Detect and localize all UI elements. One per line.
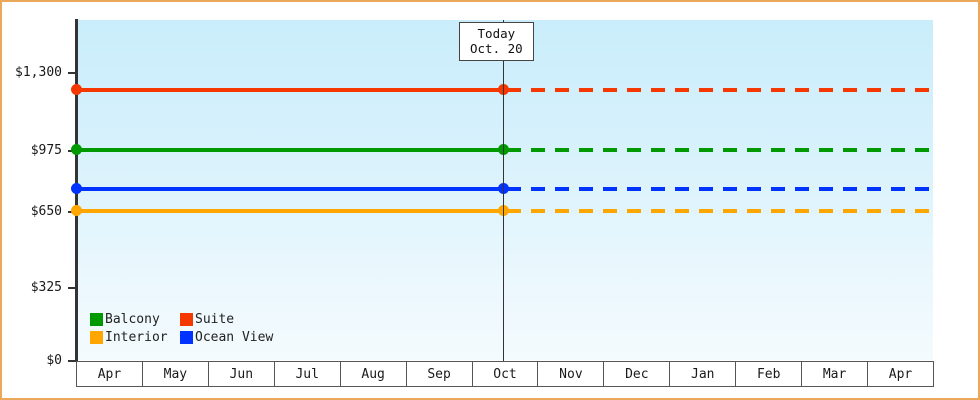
series-line-balcony-forecast [507,148,933,152]
x-axis-cell-may[interactable]: May [142,362,208,387]
y-axis-label-650: $650 [31,204,62,219]
legend-label-ocean-view: Ocean View [195,330,273,345]
x-axis-row: Apr May Jun Jul Aug Sep Oct Nov Dec Jan … [77,362,934,387]
x-axis-cell-jun[interactable]: Jun [208,362,274,387]
y-axis-label-0: $0 [46,353,62,368]
series-line-suite-actual [78,88,504,92]
today-callout-line2: Oct. 20 [470,41,523,56]
legend-swatch-ocean-view [180,331,193,344]
series-line-interior-actual [78,209,504,213]
series-line-suite-forecast [507,88,933,92]
legend-item-suite[interactable]: Suite [180,312,273,327]
x-axis-month-table: Apr May Jun Jul Aug Sep Oct Nov Dec Jan … [76,361,934,387]
chart-container: $1,300 $975 $650 $325 $0 Today Oct. 20 B… [0,0,980,400]
y-axis-label-975: $975 [31,143,62,158]
series-point-interior-start [71,205,82,216]
series-line-ocean-view-forecast [507,187,933,191]
x-axis-cell-aug[interactable]: Aug [340,362,406,387]
legend-item-interior[interactable]: Interior [90,330,180,345]
legend-item-balcony[interactable]: Balcony [90,312,180,327]
legend-label-balcony: Balcony [105,312,160,327]
series-line-interior-forecast [507,209,933,213]
today-callout-line1: Today [470,26,523,41]
x-axis-cell-oct[interactable]: Oct [472,362,538,387]
series-point-suite-start [71,84,82,95]
legend-label-interior: Interior [105,330,168,345]
y-tick-325 [68,287,76,289]
today-callout: Today Oct. 20 [459,22,534,61]
legend-label-suite: Suite [195,312,234,327]
y-tick-1300 [68,72,76,74]
legend-swatch-balcony [90,313,103,326]
chart-legend: Balcony Suite Interior Ocean View [90,312,273,345]
y-axis-label-1300: $1,300 [15,65,62,80]
series-line-balcony-actual [78,148,504,152]
legend-swatch-suite [180,313,193,326]
x-axis-cell-mar[interactable]: Mar [802,362,868,387]
x-axis-cell-jul[interactable]: Jul [274,362,340,387]
series-point-balcony-start [71,144,82,155]
legend-swatch-interior [90,331,103,344]
x-axis-cell-nov[interactable]: Nov [538,362,604,387]
y-tick-0 [68,360,76,362]
x-axis-cell-apr-1[interactable]: Apr [77,362,143,387]
x-axis-cell-sep[interactable]: Sep [406,362,472,387]
x-axis-cell-feb[interactable]: Feb [736,362,802,387]
series-point-ocean-view-start [71,183,82,194]
x-axis-cell-dec[interactable]: Dec [604,362,670,387]
legend-item-ocean-view[interactable]: Ocean View [180,330,273,345]
x-axis-cell-apr-2[interactable]: Apr [868,362,934,387]
series-line-ocean-view-actual [78,187,504,191]
today-vertical-line [503,20,504,361]
x-axis-cell-jan[interactable]: Jan [670,362,736,387]
y-axis-label-325: $325 [31,280,62,295]
